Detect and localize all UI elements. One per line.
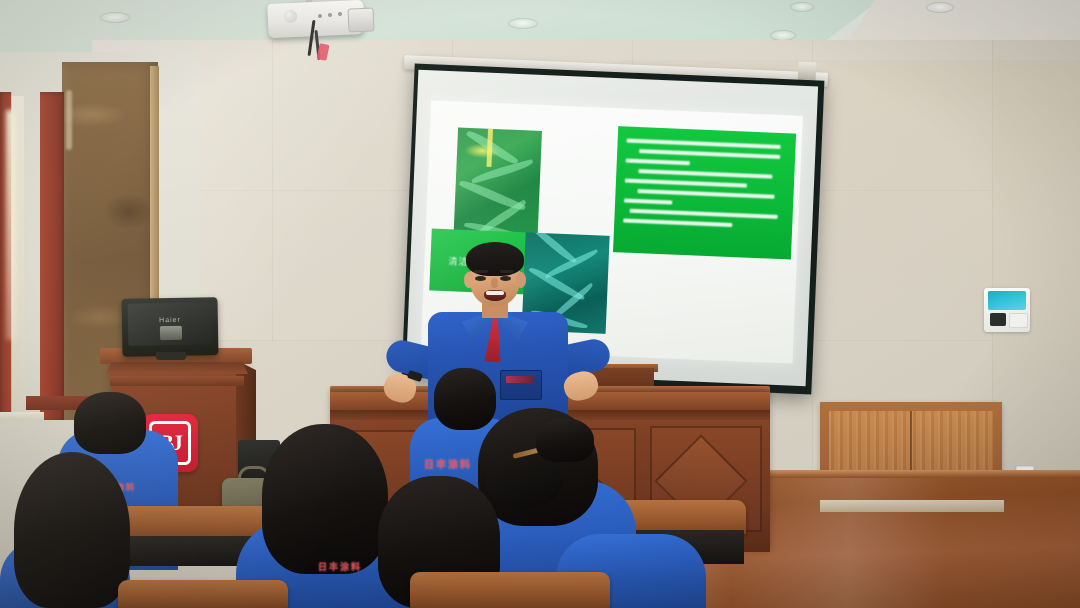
attendee-hair <box>434 368 496 430</box>
ceiling-downlight-icon <box>100 12 130 23</box>
stage-baseboard <box>820 500 1004 512</box>
presenter-nose <box>491 278 498 288</box>
presenter-ear-left <box>464 272 474 288</box>
uniform-back-print: 日丰涂料 <box>424 456 472 471</box>
presenter-eyebrow-left <box>474 270 488 273</box>
monitor-stand <box>156 352 186 360</box>
projector-button[interactable] <box>328 13 332 17</box>
projector-button[interactable] <box>318 14 322 18</box>
control-panel-white-module[interactable] <box>1009 313 1028 328</box>
presenter-eyebrow-right <box>500 270 514 273</box>
lectern-step <box>110 376 244 386</box>
presenter-pocket-badge <box>506 376 534 383</box>
chair-backrest[interactable] <box>118 580 288 608</box>
attendee-hair <box>536 418 594 462</box>
presenter-eye-left <box>475 276 486 281</box>
monitor-brand-label: Haier <box>152 317 188 326</box>
presenter-teeth <box>486 291 504 295</box>
control-panel-display <box>988 291 1026 310</box>
lectern-bevel <box>106 362 248 374</box>
ceiling-downlight-icon <box>508 18 538 29</box>
presenter-chest-pocket <box>500 370 542 400</box>
uniform-back-print: 日丰涂料 <box>318 560 362 573</box>
ceiling-downlight-icon <box>926 2 954 13</box>
attendee-hair <box>14 452 130 608</box>
projector-lens-icon <box>347 7 374 32</box>
control-panel-dark-module[interactable] <box>990 313 1006 326</box>
attendee-hair <box>74 392 146 454</box>
photo-scene: 清洁生产措施 <box>0 0 1080 608</box>
ceiling-downlight-icon <box>790 2 814 12</box>
window-sunlight-flare <box>6 110 16 340</box>
column-highlight <box>66 90 72 150</box>
projector-button[interactable] <box>338 12 342 16</box>
presenter-ear-right <box>516 272 526 288</box>
chair-backrest[interactable] <box>410 572 610 608</box>
monitor-badge <box>160 326 182 340</box>
attendee-hair <box>262 424 388 574</box>
presenter-eye-right <box>500 276 511 281</box>
